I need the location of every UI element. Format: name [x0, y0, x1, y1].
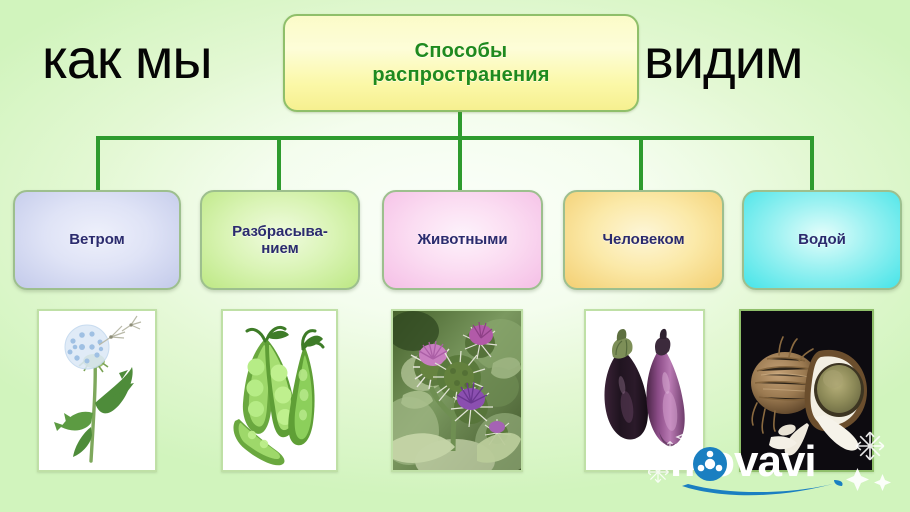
node-animals[interactable]: Животными [382, 190, 543, 290]
slide-canvas: Способы распространения Ветром Разбрасыв… [0, 0, 910, 512]
connector-drop-animals [458, 136, 462, 192]
node-scattering-label: Разбрасыва- нием [224, 223, 336, 258]
image-pea-pods [221, 309, 338, 472]
image-coconuts [739, 309, 874, 472]
root-node-label-line2: распространения [372, 63, 549, 87]
node-water[interactable]: Водой [742, 190, 902, 290]
connector-drop-water [810, 136, 814, 192]
node-human-label: Человеком [594, 231, 692, 248]
root-node-label: Способы распространения [362, 39, 559, 87]
connector-drop-human [639, 136, 643, 192]
overlay-text-right: видим [644, 26, 803, 91]
node-scattering-label-line1: Разбрасыва- [232, 223, 328, 240]
node-scattering[interactable]: Разбрасыва- нием [200, 190, 360, 290]
root-node-label-line1: Способы [372, 39, 549, 63]
node-wind[interactable]: Ветром [13, 190, 181, 290]
image-burdock-thistle [391, 309, 523, 472]
node-water-label: Водой [790, 231, 854, 248]
node-human[interactable]: Человеком [563, 190, 724, 290]
connector-drop-wind [96, 136, 100, 192]
image-dandelion-seedhead [37, 309, 157, 472]
node-scattering-label-line2: нием [232, 240, 328, 257]
connector-horizontal-bus [96, 136, 814, 140]
node-animals-label: Животными [409, 231, 515, 248]
overlay-text-left: как мы [42, 26, 212, 91]
connector-drop-scattering [277, 136, 281, 192]
node-wind-label: Ветром [61, 231, 133, 248]
image-eggplants [584, 309, 705, 472]
root-node[interactable]: Способы распространения [283, 14, 639, 112]
